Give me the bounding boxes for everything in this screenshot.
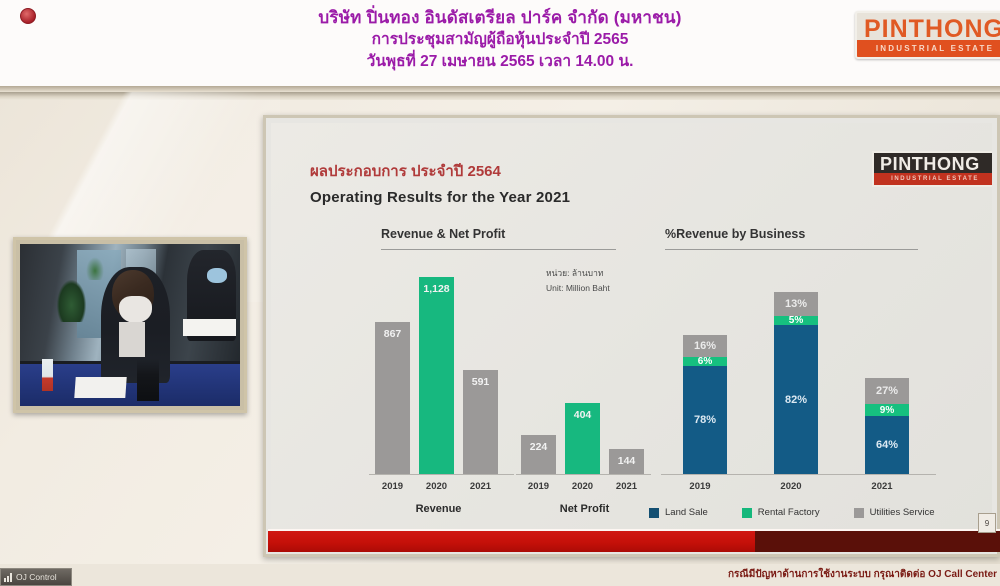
stacked-bar-2021[interactable]: 27% 9% 64% [865,378,909,474]
taskbar-item-label: OJ Control [16,569,57,585]
year-label-netprofit-2019: 2019 [521,481,556,492]
bar-value-netprofit-2020: 404 [565,409,600,421]
legend-item-land-sale[interactable]: Land Sale [649,507,708,518]
recording-indicator-icon [20,8,36,24]
company-logo-tagline: INDUSTRIAL ESTATE [857,40,1000,57]
chart-bars-icon [4,573,13,582]
company-logo: PINTHONG INDUSTRIAL ESTATE [855,11,1000,59]
bar-netprofit-2020[interactable]: 404 [565,403,600,474]
legend-label-rental-factory: Rental Factory [758,507,820,518]
section-rule-right [665,249,918,250]
slide-heading-english: Operating Results for the Year 2021 [310,189,570,206]
bar-value-netprofit-2019: 224 [521,441,556,453]
section-title-revenue-by-business: %Revenue by Business [665,227,805,245]
legend-label-utilities-service: Utilities Service [870,507,935,518]
bar-netprofit-2021[interactable]: 144 [609,449,644,474]
slide-progress-fill [268,531,755,552]
presentation-slide-panel[interactable]: PINTHONG INDUSTRIAL ESTATE ผลประกอบการ ป… [263,115,1000,557]
slide-logo-tagline: INDUSTRIAL ESTATE [874,173,992,185]
slide-progress-bar[interactable] [268,529,1000,552]
bar-group-netprofit: 224 404 144 [521,403,644,474]
year-label-revenue-2019: 2019 [375,481,410,492]
slide-logo: PINTHONG INDUSTRIAL ESTATE [872,151,992,187]
segment-utilities-2021[interactable]: 27% [865,378,909,404]
section-rule-left [381,249,616,250]
axis-line-business [661,474,936,475]
status-bar: กรณีมีปัญหาด้านการใช้งานระบบ กรุณาติดต่อ… [0,564,1000,586]
company-name: บริษัท ปิ่นทอง อินดัสเตรียล ปาร์ค จำกัด … [200,6,800,29]
bar-value-revenue-2019: 867 [375,328,410,340]
segment-utilities-2019[interactable]: 16% [683,335,727,357]
year-label-netprofit-2021: 2021 [609,481,644,492]
segment-utilities-2020[interactable]: 13% [774,292,818,316]
year-label-business-2021: 2021 [860,481,904,492]
bar-revenue-2021[interactable]: 591 [463,370,498,474]
bar-value-revenue-2020: 1,128 [419,283,454,295]
segment-landsale-2020[interactable]: 82% [774,325,818,474]
bar-netprofit-2019[interactable]: 224 [521,435,556,474]
video-water-bottle [42,359,53,391]
section-title-revenue-netprofit-label: Revenue & Net Profit [381,227,505,241]
year-label-business-2019: 2019 [678,481,722,492]
header-band: บริษัท ปิ่นทอง อินดัสเตรียล ปาร์ค จำกัด … [0,0,1000,92]
taskbar-item-oj-control[interactable]: OJ Control [0,568,72,586]
video-face-mask-secondary [207,268,227,283]
section-title-revenue-netprofit: Revenue & Net Profit [381,227,505,245]
video-nameplate-1 [74,377,126,398]
chart-legend: Land Sale Rental Factory Utilities Servi… [649,507,969,518]
bar-group-revenue: 867 1,128 591 [375,277,498,474]
section-title-revenue-by-business-label: %Revenue by Business [665,227,805,241]
video-plant [57,280,86,322]
bar-revenue-2019[interactable]: 867 [375,322,410,474]
legend-item-utilities-service[interactable]: Utilities Service [854,507,935,518]
video-plant-2 [86,257,104,280]
meeting-title-block: บริษัท ปิ่นทอง อินดัสเตรียล ปาร์ค จำกัด … [200,6,800,72]
segment-landsale-2021[interactable]: 64% [865,416,909,474]
slide-content: PINTHONG INDUSTRIAL ESTATE ผลประกอบการ ป… [271,123,992,549]
chart-revenue-by-business: 16% 6% 78% 13% 5% 82% 27% 9% 64% [661,278,936,475]
year-labels-revenue: 2019 2020 2021 [375,481,498,492]
year-labels-netprofit: 2019 2020 2021 [521,481,644,492]
year-label-netprofit-2020: 2020 [565,481,600,492]
stacked-bar-2019[interactable]: 16% 6% 78% [683,335,727,474]
meeting-datetime: วันพุธที่ 27 เมษายน 2565 เวลา 14.00 น. [200,51,800,72]
bar-value-netprofit-2021: 144 [609,455,644,467]
segment-rental-2021[interactable]: 9% [865,404,909,416]
stacked-bar-2020[interactable]: 13% 5% 82% [774,292,818,474]
year-labels-business: 2019 2020 2021 [678,481,904,492]
group-label-revenue: Revenue [375,503,502,515]
segment-rental-2020[interactable]: 5% [774,316,818,325]
slide-page-badge: 9 [978,513,996,533]
bar-revenue-2020[interactable]: 1,128 [419,277,454,474]
slide-heading-thai: ผลประกอบการ ประจำปี 2564 [310,159,501,183]
bar-value-revenue-2021: 591 [463,376,498,388]
segment-landsale-2019[interactable]: 78% [683,366,727,474]
segment-rental-2019[interactable]: 6% [683,357,727,366]
app-window: บริษัท ปิ่นทอง อินดัสเตรียล ปาร์ค จำกัด … [0,0,1000,586]
legend-item-rental-factory[interactable]: Rental Factory [742,507,820,518]
axis-line-revenue [369,474,514,475]
video-microphone [137,359,159,401]
slide-logo-word: PINTHONG [880,154,980,175]
video-shirt [119,322,145,358]
video-nameplate-2 [183,319,236,337]
video-stream [20,244,240,406]
support-contact-text: กรณีมีปัญหาด้านการใช้งานระบบ กรุณาติดต่อ… [728,567,1000,582]
axis-line-netprofit [516,474,651,475]
year-label-business-2020: 2020 [769,481,813,492]
legend-label-land-sale: Land Sale [665,507,708,518]
chart-netprofit: 224 404 144 [516,278,651,475]
meeting-subtitle: การประชุมสามัญผู้ถือหุ้นประจำปี 2565 [200,29,800,50]
year-label-revenue-2021: 2021 [463,481,498,492]
group-label-netprofit: Net Profit [521,503,648,515]
year-label-revenue-2020: 2020 [419,481,454,492]
chart-revenue: 867 1,128 591 [369,278,514,475]
legend-swatch-utilities-service [854,508,864,518]
legend-swatch-rental-factory [742,508,752,518]
video-thumbnail[interactable] [13,237,247,413]
legend-swatch-land-sale [649,508,659,518]
